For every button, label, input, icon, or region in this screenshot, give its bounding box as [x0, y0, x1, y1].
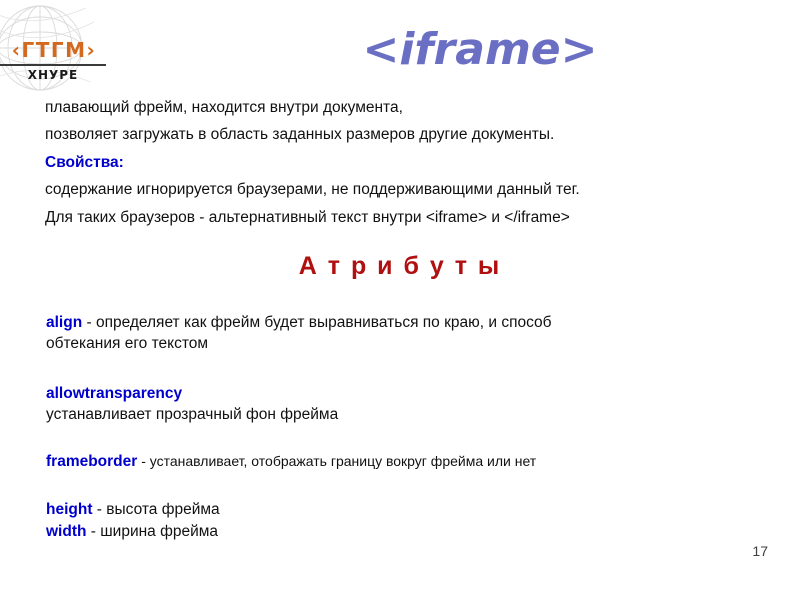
logo-mark: ‹ГТГМ›	[2, 40, 106, 62]
intro-line: Для таких браузеров - альтернативный тек…	[45, 208, 765, 228]
attribute-row: align - определяет как фрейм будет вырав…	[46, 313, 746, 334]
attribute-row: height - высота фрейма	[46, 500, 746, 521]
attribute-name-frameborder: frameborder	[46, 453, 137, 470]
attribute-description: устанавливает, отображать границу вокруг…	[150, 453, 536, 469]
page-title: <iframe>	[170, 27, 790, 73]
intro-line: содержание игнорируется браузерами, не п…	[45, 180, 765, 200]
attribute-description-continued: обтекания его текстом	[46, 334, 746, 355]
properties-heading: Свойства:	[45, 153, 765, 173]
section-heading-attributes: А т р и б у т ы	[0, 252, 800, 281]
intro-text-block: плавающий фрейм, находится внутри докуме…	[45, 98, 765, 235]
attribute-name-allowtransparency: allowtransparency	[46, 385, 182, 402]
attribute-separator: -	[93, 501, 107, 518]
attribute-list: align - определяет как фрейм будет вырав…	[46, 313, 746, 552]
attribute-description: устанавливает прозрачный фон фрейма	[46, 405, 746, 426]
attribute-separator: -	[82, 314, 96, 331]
attribute-description: ширина фрейма	[100, 523, 218, 540]
list-item: frameborder - устанавливает, отображать …	[46, 452, 746, 473]
page-number: 17	[752, 543, 768, 559]
intro-line: плавающий фрейм, находится внутри докуме…	[45, 98, 765, 118]
attribute-separator: -	[86, 523, 100, 540]
attribute-description: определяет как фрейм будет выравниваться…	[96, 314, 552, 331]
list-item: width - ширина фрейма	[46, 522, 746, 543]
attribute-name-width: width	[46, 523, 86, 540]
list-item: height - высота фрейма	[46, 500, 746, 521]
attribute-description: высота фрейма	[106, 501, 219, 518]
attribute-row: frameborder - устанавливает, отображать …	[46, 452, 746, 473]
list-item: align - определяет как фрейм будет вырав…	[46, 313, 746, 354]
logo-subtitle: ХНУРЕ	[0, 68, 106, 82]
attribute-row: width - ширина фрейма	[46, 522, 746, 543]
logo-mark-text: ‹ГТГМ›	[12, 38, 97, 62]
institution-logo: ‹ГТГМ› ХНУРЕ	[0, 8, 112, 92]
logo-divider	[0, 64, 106, 66]
attribute-name-height: height	[46, 501, 93, 518]
attribute-separator: -	[137, 453, 149, 469]
intro-line: позволяет загружать в область заданных р…	[45, 125, 765, 145]
presentation-slide: ‹ГТГМ› ХНУРЕ <iframe> плавающий фрейм, н…	[0, 0, 800, 600]
list-item: allowtransparency устанавливает прозрачн…	[46, 384, 746, 425]
attribute-name-align: align	[46, 314, 82, 331]
attribute-row: allowtransparency	[46, 384, 746, 405]
